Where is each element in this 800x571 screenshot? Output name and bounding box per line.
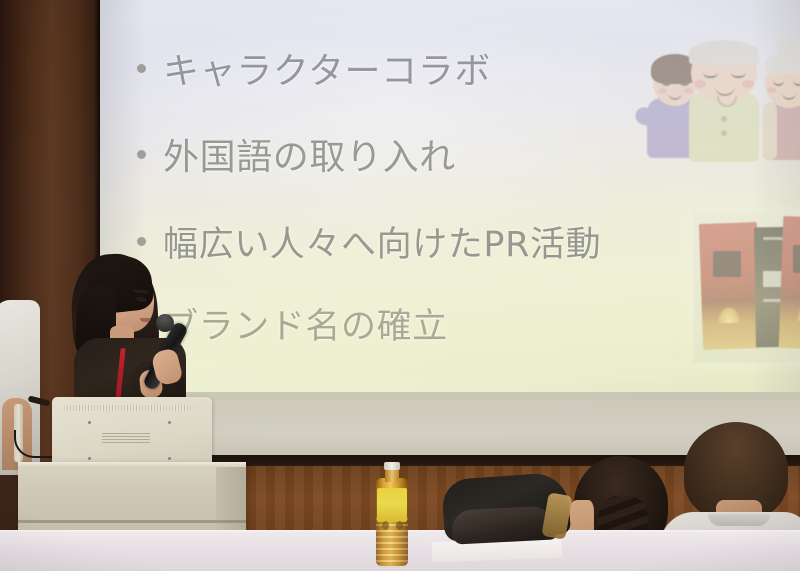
slide-bullet-2: 外国語の取り入れ: [137, 128, 456, 180]
slide-bullet-1: キャラクターコラボ: [137, 42, 491, 94]
lectern-side: [216, 466, 246, 536]
bullet-dot-icon: [137, 237, 146, 246]
bottle-label-mark: [396, 521, 403, 530]
monitor-screw: [168, 421, 171, 424]
audience-member-gray-collar: [708, 514, 770, 526]
brochure-photo: [693, 211, 800, 363]
bottle-label: [377, 488, 407, 522]
slide-bullet-2-text: 外国語の取り入れ: [163, 128, 456, 180]
lectern-top-edge: [18, 462, 246, 467]
slide-bullet-3-text: 幅広い人々へ向けたPR活動: [163, 216, 601, 267]
monitor-screw: [88, 457, 91, 460]
presentation-photo-scene: キャラクターコラボ 外国語の取り入れ 幅広い人々へ向けたPR活動 ブランド名の確…: [0, 0, 800, 571]
bottle-neck: [385, 468, 399, 482]
monitor-label: [102, 433, 150, 443]
family-clipart: [637, 36, 800, 164]
bottle-label-mark: [382, 521, 389, 530]
tea-bottle: [374, 462, 410, 566]
bullet-dot-icon: [137, 150, 146, 159]
bottle-cap: [384, 462, 400, 470]
monitor-screw: [168, 457, 171, 460]
bullet-dot-icon: [137, 64, 146, 73]
slide-bullet-1-text: キャラクターコラボ: [163, 42, 491, 94]
monitor-screw: [88, 421, 91, 424]
dark-bag-lower: [451, 505, 557, 544]
lectern-seam: [18, 520, 246, 523]
monitor-vent: [64, 405, 194, 411]
bottle-ribs: [376, 518, 408, 566]
